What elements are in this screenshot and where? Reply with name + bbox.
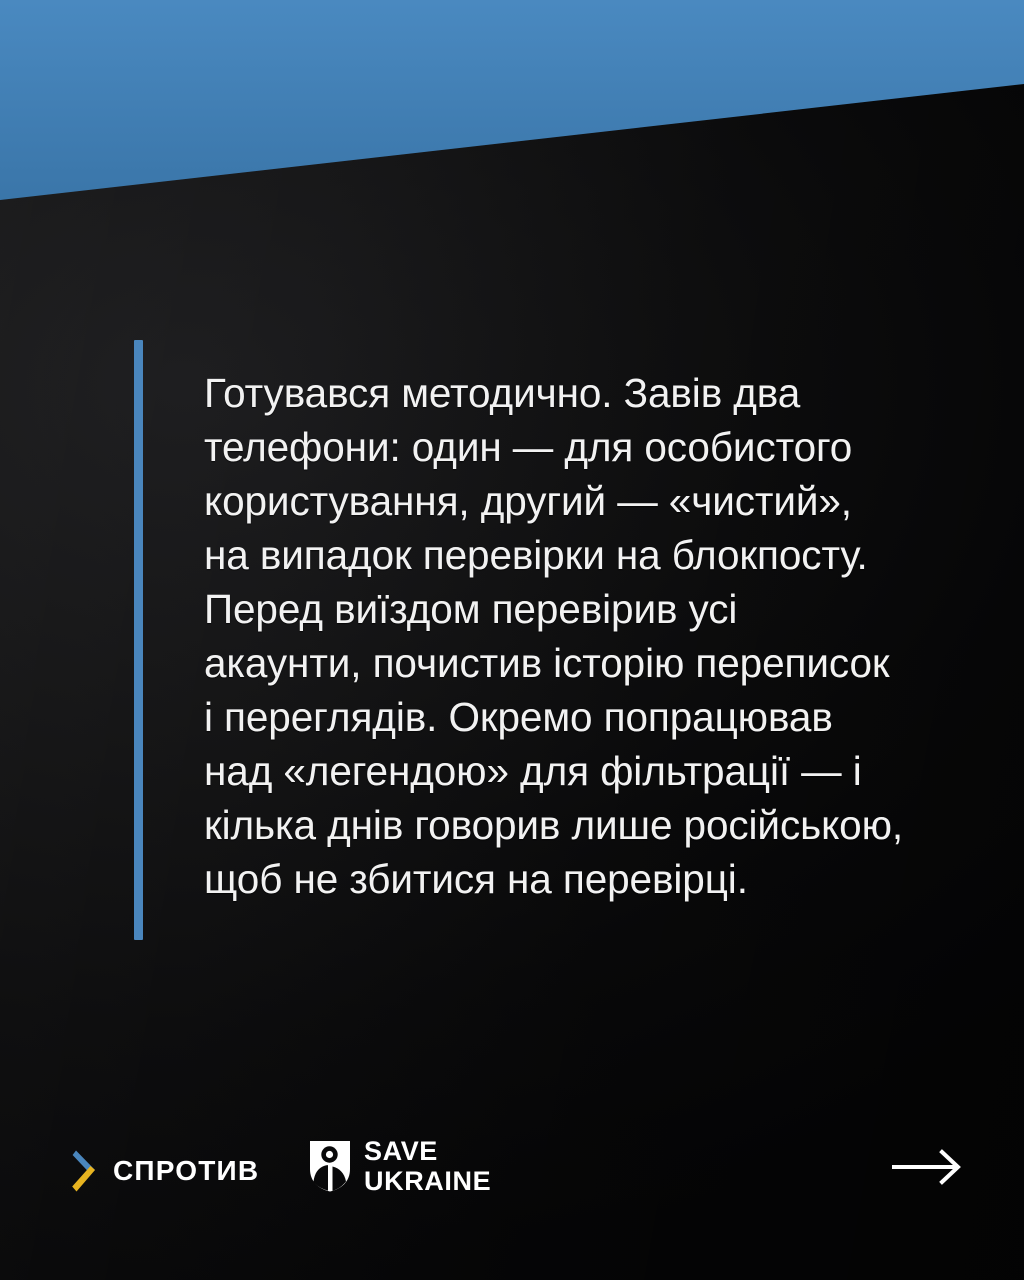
quote-text: Готувався методично. Завів два телефони:…	[204, 340, 904, 906]
quote-block: Готувався методично. Завів два телефони:…	[134, 340, 934, 940]
sprotyv-logo[interactable]: СПРОТИВ	[72, 1148, 259, 1194]
chevron-right-icon	[72, 1148, 99, 1194]
arrow-right-icon	[888, 1146, 966, 1188]
sprotyv-wordmark: СПРОТИВ	[113, 1155, 259, 1187]
save-ukraine-wordmark: SAVE UKRAINE	[364, 1136, 491, 1196]
save-ukraine-logo[interactable]: SAVE UKRAINE	[308, 1136, 491, 1196]
save-ukraine-line2: UKRAINE	[364, 1166, 491, 1196]
save-ukraine-line1: SAVE	[364, 1136, 491, 1166]
footer: СПРОТИВ	[0, 1100, 1024, 1280]
shield-person-icon	[308, 1139, 352, 1193]
quote-accent-bar	[134, 340, 143, 940]
social-card: Готувався методично. Завів два телефони:…	[0, 0, 1024, 1280]
next-slide-button[interactable]	[888, 1146, 966, 1188]
